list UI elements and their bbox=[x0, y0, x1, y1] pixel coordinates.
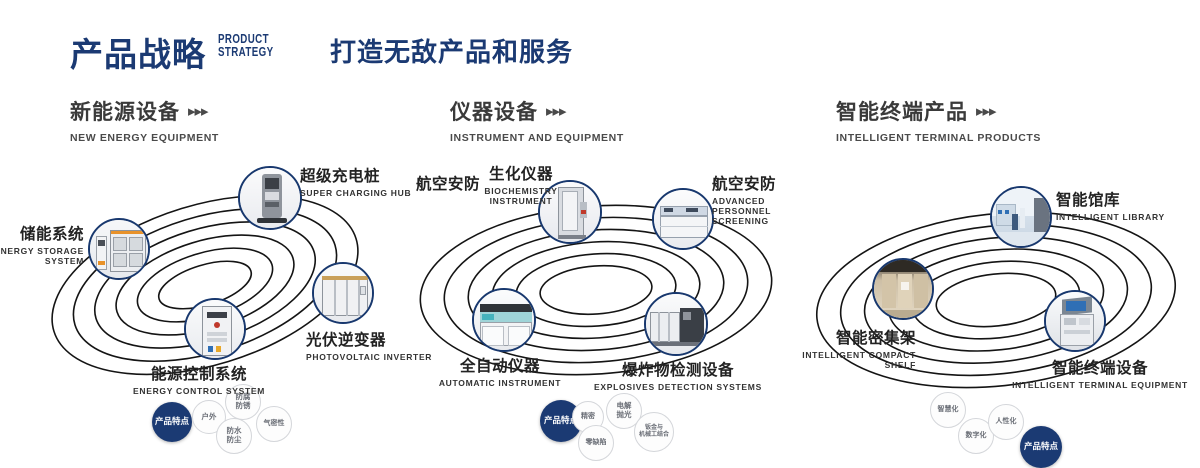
header: 产品战略 PRODUCT STRATEGY 打造无敌产品和服务 bbox=[0, 0, 1200, 90]
page-title-english: PRODUCT STRATEGY bbox=[218, 33, 273, 59]
feature-bubble-sheetmetal-machining: 钣金与机械工结合 bbox=[634, 412, 674, 452]
node-photo-compact-shelf[interactable] bbox=[872, 258, 934, 320]
feature-line2: 防尘 bbox=[227, 436, 242, 445]
node-label-explosives-detection: 爆炸物检测设备 EXPLOSIVES DETECTION SYSTEMS bbox=[568, 358, 788, 392]
node-label-cn: 生化仪器 bbox=[456, 162, 586, 184]
section-title-en: INSTRUMENT AND EQUIPMENT bbox=[450, 132, 624, 144]
node-photo-intelligent-library[interactable] bbox=[990, 186, 1052, 248]
node-label-compact-shelf: 智能密集架 INTELLIGENT COMPACT SHELF bbox=[776, 326, 916, 370]
feature-bubble-airtight: 气密性 bbox=[256, 406, 292, 442]
feature-line1: 钣金与 bbox=[639, 425, 669, 432]
node-label-en: INTELLIGENT COMPACT SHELF bbox=[776, 350, 916, 370]
section-title-cn: 仪器设备▸▸▸ bbox=[450, 96, 624, 126]
node-label-personnel-screening: 航空安防 ADVANCED PERSONNEL SCREENING bbox=[712, 172, 800, 226]
node-label-en: EXPLOSIVES DETECTION SYSTEMS bbox=[568, 382, 788, 392]
node-label-en: INTELLIGENT TERMINAL EQUIPMENT bbox=[1000, 380, 1200, 390]
chevron-right-icon: ▸▸▸ bbox=[188, 102, 208, 120]
core-bubble-product-features: 产品特点 bbox=[152, 402, 192, 442]
node-label-cn: 爆炸物检测设备 bbox=[568, 358, 788, 380]
feature-bubble-smart: 智慧化 bbox=[930, 392, 966, 428]
page-title-english-line2: STRATEGY bbox=[218, 46, 273, 59]
node-label-en: BIOCHEMISTRY INSTRUMENT bbox=[456, 186, 586, 206]
feature-line1: 零缺陷 bbox=[586, 439, 607, 447]
node-label-cn: 航空安防 bbox=[712, 172, 800, 194]
chevron-right-icon: ▸▸▸ bbox=[976, 102, 996, 120]
feature-bubble-humanized: 人性化 bbox=[988, 404, 1024, 440]
section-title-intelligent-terminal: 智能终端产品▸▸▸ INTELLIGENT TERMINAL PRODUCTS bbox=[836, 96, 1041, 144]
node-photo-energy-storage[interactable] bbox=[88, 218, 150, 280]
section-title-en: INTELLIGENT TERMINAL PRODUCTS bbox=[836, 132, 1041, 144]
feature-line1: 数字化 bbox=[966, 432, 987, 440]
node-label-en: INTELLIGENT LIBRARY bbox=[1056, 212, 1165, 222]
core-line2: 特点 bbox=[1041, 441, 1058, 451]
section-title-en: NEW ENERGY EQUIPMENT bbox=[70, 132, 219, 144]
core-line1: 产品 bbox=[544, 415, 561, 425]
page-title: 产品战略 bbox=[70, 28, 206, 76]
core-line2: 特点 bbox=[172, 416, 189, 426]
node-photo-automatic-instrument[interactable] bbox=[472, 288, 536, 352]
node-label-cn: 智能终端设备 bbox=[1000, 356, 1200, 378]
core-line1: 产品 bbox=[155, 416, 172, 426]
section-label: 智能终端产品 bbox=[836, 101, 968, 124]
diagram-new-energy: 产品特点 户外 防腐防锈 防水防尘 气密性 bbox=[0, 150, 400, 410]
node-label-en: ADVANCED PERSONNEL SCREENING bbox=[712, 196, 800, 226]
chevron-right-icon: ▸▸▸ bbox=[546, 102, 566, 120]
page-subtitle: 打造无敌产品和服务 bbox=[330, 32, 573, 69]
feature-bubble-waterproof: 防水防尘 bbox=[216, 418, 252, 454]
product-strategy-infographic: 产品战略 PRODUCT STRATEGY 打造无敌产品和服务 新能源设备▸▸▸… bbox=[0, 0, 1200, 422]
section-label: 仪器设备 bbox=[450, 101, 538, 124]
section-title-instrument: 仪器设备▸▸▸ INSTRUMENT AND EQUIPMENT bbox=[450, 96, 624, 144]
node-photo-personnel-screening[interactable] bbox=[652, 188, 714, 250]
feature-bubble-zero-defect: 零缺陷 bbox=[578, 425, 614, 461]
node-label-terminal-equipment: 智能终端设备 INTELLIGENT TERMINAL EQUIPMENT bbox=[1000, 356, 1200, 390]
section-title-new-energy: 新能源设备▸▸▸ NEW ENERGY EQUIPMENT bbox=[70, 96, 219, 144]
feature-line1: 精密 bbox=[581, 413, 595, 421]
node-label-cn: 能源控制系统 bbox=[84, 362, 314, 384]
node-label-biochemistry-instrument: 生化仪器 BIOCHEMISTRY INSTRUMENT bbox=[456, 162, 586, 206]
feature-line1: 防水 bbox=[227, 427, 242, 436]
feature-line1: 户外 bbox=[202, 413, 217, 422]
section-title-cn: 智能终端产品▸▸▸ bbox=[836, 96, 1041, 126]
feature-line2: 机械工结合 bbox=[639, 432, 669, 439]
feature-line1: 气密性 bbox=[264, 420, 285, 428]
node-label-energy-control: 能源控制系统 ENERGY CONTROL SYSTEM bbox=[84, 362, 314, 396]
node-label-energy-storage: 储能系统 ENERGY STORAGE SYSTEM bbox=[0, 222, 84, 266]
node-photo-energy-control[interactable] bbox=[184, 298, 246, 360]
node-photo-pv-inverter[interactable] bbox=[312, 262, 374, 324]
node-label-en: ENERGY STORAGE SYSTEM bbox=[0, 246, 84, 266]
node-label-cn: 智能密集架 bbox=[776, 326, 916, 348]
node-label-cn: 智能馆库 bbox=[1056, 188, 1165, 210]
node-photo-charging-hub[interactable] bbox=[238, 166, 302, 230]
node-label-en: ENERGY CONTROL SYSTEM bbox=[84, 386, 314, 396]
diagram-instrument: 产品特点 精密 电解抛光 零缺陷 钣金与机械工结合 航空安防 bbox=[400, 150, 800, 410]
core-line1: 产品 bbox=[1024, 441, 1041, 451]
core-bubble-product-features: 产品特点 bbox=[1020, 426, 1062, 468]
node-label-intelligent-library: 智能馆库 INTELLIGENT LIBRARY bbox=[1056, 188, 1165, 222]
feature-line1: 智慧化 bbox=[938, 406, 959, 414]
feature-line2: 防锈 bbox=[236, 402, 251, 411]
node-label-cn: 储能系统 bbox=[0, 222, 84, 244]
section-title-cn: 新能源设备▸▸▸ bbox=[70, 96, 219, 126]
feature-line2: 抛光 bbox=[617, 411, 632, 420]
node-photo-explosives-detection[interactable] bbox=[644, 292, 708, 356]
node-photo-terminal-equipment[interactable] bbox=[1044, 290, 1106, 352]
section-label: 新能源设备 bbox=[70, 101, 180, 124]
diagram-intelligent-terminal: 智慧化 数字化 人性化 产品特点 智能馆库 INTELL bbox=[800, 150, 1200, 410]
